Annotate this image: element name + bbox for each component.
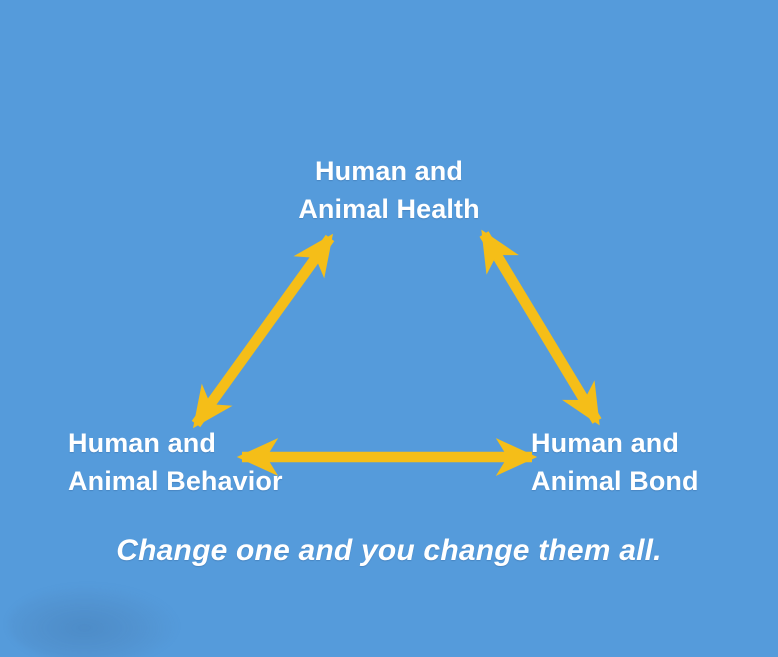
- background-smudge: [8, 585, 178, 657]
- diagram-caption: Change one and you change them all.: [0, 534, 778, 568]
- node-label-bond: Human and Animal Bond: [531, 424, 699, 500]
- node-label-health: Human and Animal Health: [0, 152, 778, 228]
- node-behavior-line1: Human and: [68, 424, 283, 462]
- node-bond-line2: Animal Bond: [531, 462, 699, 500]
- arrow-health-bond: [484, 234, 597, 421]
- node-health-line1: Human and: [0, 152, 778, 190]
- diagram-canvas: Human and Animal Health Human and Animal…: [0, 0, 778, 657]
- arrow-behavior-health: [196, 238, 330, 424]
- node-health-line2: Animal Health: [0, 190, 778, 228]
- node-bond-line1: Human and: [531, 424, 699, 462]
- node-label-behavior: Human and Animal Behavior: [68, 424, 283, 500]
- node-behavior-line2: Animal Behavior: [68, 462, 283, 500]
